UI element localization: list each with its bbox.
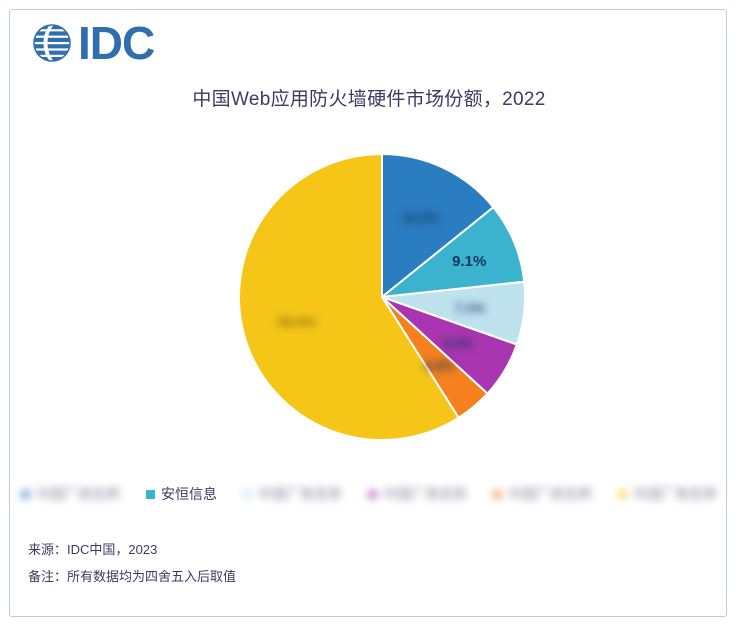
legend-item-label: 中国厂商名称 <box>508 487 592 501</box>
idc-logo: IDC <box>28 18 154 68</box>
chart-page: IDC 中国Web应用防火墙硬件市场份额，2022 14.2%9.1%7.1%6… <box>0 0 738 628</box>
legend-swatch-icon <box>368 490 377 499</box>
legend-item[interactable]: 安恒信息 <box>146 487 217 501</box>
legend-swatch-icon <box>21 490 30 499</box>
pie-slice-group <box>239 154 525 440</box>
legend-item-label: 中国厂商名称 <box>36 487 120 501</box>
legend-item[interactable]: 中国厂商名称 <box>243 487 342 501</box>
idc-globe-icon <box>28 19 76 67</box>
pie-slice-label: 59.0% <box>278 315 315 330</box>
pie-slice-label: 14.2% <box>402 210 439 225</box>
pie-chart: 14.2%9.1%7.1%6.4%4.2%59.0% <box>237 152 527 442</box>
legend-item-label: 中国厂商名称 <box>383 487 467 501</box>
legend-item-label: 安恒信息 <box>161 487 217 501</box>
pie-slice-label: 4.2% <box>424 358 454 373</box>
pie-slice-label: 7.1% <box>455 300 485 315</box>
pie-slice-label: 6.4% <box>443 336 473 351</box>
chart-footer: 来源：IDC中国，2023 备注：所有数据均为四舍五入后取值 <box>28 543 236 583</box>
legend-item-label: 中国厂商名称 <box>258 487 342 501</box>
pie-slice-label: 9.1% <box>452 253 486 270</box>
footer-source: 来源：IDC中国，2023 <box>28 543 236 556</box>
legend-swatch-icon <box>493 490 502 499</box>
legend-item[interactable]: 中国厂商名称 <box>493 487 592 501</box>
legend-swatch-icon <box>618 490 627 499</box>
legend-item[interactable]: 中国厂商名称 <box>21 487 120 501</box>
legend-swatch-icon <box>146 490 155 499</box>
footer-note: 备注：所有数据均为四舍五入后取值 <box>28 570 236 583</box>
chart-legend: 中国厂商名称安恒信息中国厂商名称中国厂商名称中国厂商名称中国厂商名称 <box>0 487 738 501</box>
legend-swatch-icon <box>243 490 252 499</box>
legend-item-label: 中国厂商名称 <box>633 487 717 501</box>
pie-chart-svg: 14.2%9.1%7.1%6.4%4.2%59.0% <box>237 152 527 442</box>
idc-logo-text: IDC <box>78 20 154 66</box>
chart-title: 中国Web应用防火墙硬件市场份额，2022 <box>0 84 738 111</box>
legend-item[interactable]: 中国厂商名称 <box>368 487 467 501</box>
legend-item[interactable]: 中国厂商名称 <box>618 487 717 501</box>
